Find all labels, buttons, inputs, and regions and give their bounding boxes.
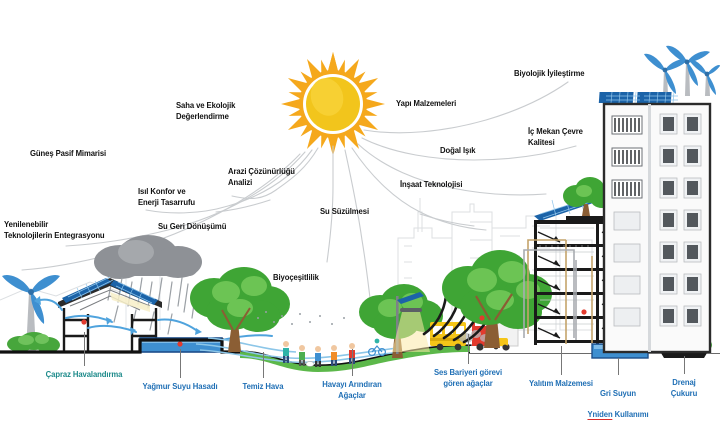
label-insaat-teknolojisi: İnşaat Teknolojisi xyxy=(400,179,462,190)
label-temiz-hava: Temiz Hava xyxy=(243,381,284,392)
label-ses-bariyeri: Ses Bariyeri görevi gören ağaçlar xyxy=(434,367,502,388)
leader-temiz-hava xyxy=(263,352,264,378)
label-biyolojik-iyilestirme: Biyolojik İyileştirme xyxy=(514,68,584,79)
label-su-geri-donusumu: Su Geri Dönüşümü xyxy=(158,221,226,232)
label-arazi-cozunurlugu: Arazi Çözünürlüğü Analizi xyxy=(228,166,295,187)
leader-capraz-havalandirma xyxy=(84,332,85,366)
label-ic-mekan-cevre: İç Mekan Çevre Kalitesi xyxy=(528,126,583,147)
label-drenaj-cukuru: Drenaj Çukuru xyxy=(667,377,700,398)
leader-drenaj-cukuru xyxy=(684,356,685,374)
leader-gri-suyun xyxy=(618,358,619,375)
label-capraz-havalandirma: Çapraz Havalandırma xyxy=(46,369,123,380)
leader-havayi-arindiran xyxy=(352,349,353,376)
label-yalitim-malzemesi: Yalıtım Malzemesi xyxy=(529,378,593,389)
label-isil-konfor: Isıl Konfor ve Enerji Tasarrufu xyxy=(138,186,195,207)
label-havayi-arindiran: Havayı Arındıran Ağaçlar xyxy=(322,379,381,400)
label-saha-ve-ekolojik: Saha ve Ekolojik Değerlendirme xyxy=(176,100,235,121)
label-su-suzulmesi: Su Süzülmesi xyxy=(320,206,369,217)
leader-ses-bariyeri xyxy=(468,334,469,364)
label-gri-suyun-spellcheck-word: Yniden xyxy=(587,409,612,420)
label-gri-suyun-line1: Gri Suyun xyxy=(600,388,636,398)
label-dogal-isik: Doğal Işık xyxy=(440,145,475,156)
leader-yagmur-suyu-hasadi xyxy=(180,349,181,378)
leader-yalitim-malzemesi xyxy=(561,346,562,375)
label-gri-suyun-line2-rest: Kullanımı xyxy=(613,409,649,419)
label-biyocesitlilik: Biyoçeşitlilik xyxy=(273,272,319,283)
label-gri-suyun: Gri Suyun Yniden Kullanımı xyxy=(587,377,648,419)
solar-panel-icon xyxy=(599,92,678,103)
label-yenilenebilir-teknolojiler: Yenilenebilir Teknolojilerin Entegrasyon… xyxy=(4,219,105,240)
label-gunes-pasif-mimarisi: Güneş Pasif Mimarisi xyxy=(30,148,106,159)
wind-turbine-icon xyxy=(644,46,720,96)
label-yapi-malzemeleri: Yapı Malzemeleri xyxy=(396,98,456,109)
infographic-canvas: Güneş Pasif Mimarisi Saha ve Ekolojik De… xyxy=(0,0,720,427)
label-yagmur-suyu-hasadi: Yağmur Suyu Hasadı xyxy=(143,381,218,392)
